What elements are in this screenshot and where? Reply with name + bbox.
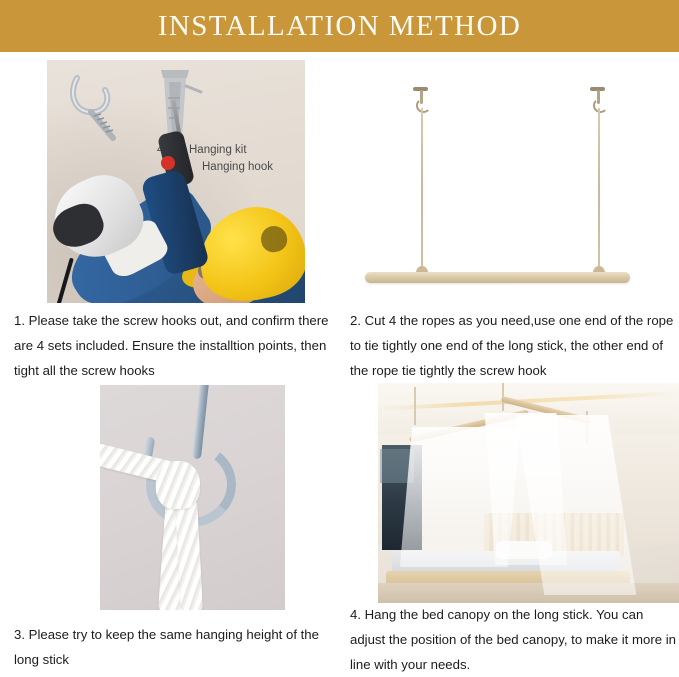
step-1-image-drilling: 4xHanging kit Hanging hook	[47, 60, 305, 303]
step-2-caption: 2. Cut 4 the ropes as you need,use one e…	[350, 308, 676, 383]
screw-hook-icon	[67, 66, 141, 144]
header-banner: INSTALLATION METHOD	[0, 0, 679, 52]
rope-knot	[156, 461, 200, 509]
step-1-caption: 1. Please take the screw hooks out, and …	[14, 308, 336, 383]
step-3-image-knot	[100, 385, 285, 610]
step-2-image-stick	[345, 60, 679, 300]
wooden-long-stick	[365, 272, 630, 283]
step-3-caption: 3. Please try to keep the same hanging h…	[14, 622, 336, 672]
drill-trigger	[161, 156, 175, 170]
step-4-caption: 4. Hang the bed canopy on the long stick…	[350, 602, 676, 677]
kit-label: Hanging kit	[189, 144, 247, 156]
step-4-image-bedroom	[378, 383, 679, 603]
page-title: INSTALLATION METHOD	[158, 10, 521, 43]
rope-left	[421, 108, 423, 278]
rope-right	[598, 108, 600, 278]
ceiling-rope-1	[414, 387, 416, 425]
